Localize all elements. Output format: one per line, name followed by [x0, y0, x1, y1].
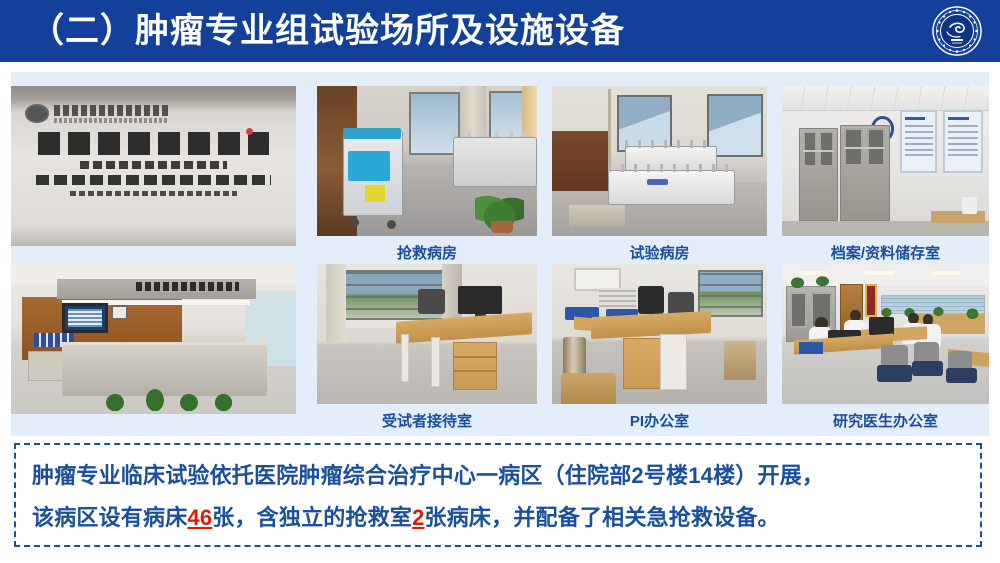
gallery-row-1: 抢救病房 试验病房: [11, 86, 989, 246]
summary-line-1: 肿瘤专业临床试验依托医院肿瘤综合治疗中心一病区（住院部2号楼14楼）开展，: [32, 455, 966, 497]
photo-oncology-center-sign: [11, 86, 296, 246]
hospital-emblem-logo: [932, 6, 982, 56]
photo-archive-room: 档案/资料储存室: [782, 86, 989, 236]
photo-nurses-station: [11, 264, 296, 414]
rescue-bed-count-highlight: 2: [412, 505, 424, 530]
slide-root: （二）肿瘤专业组试验场所及设施设备: [0, 0, 1000, 563]
summary-line2-part-a: 该病区设有病床: [32, 505, 187, 530]
summary-line1-text: 肿瘤专业临床试验依托医院肿瘤综合治疗中心一病区（住院部2号楼14楼）开展，: [32, 463, 824, 488]
photo-rescue-ward: 抢救病房: [317, 86, 537, 236]
photo-caption: 抢救病房: [317, 242, 537, 263]
slide-header: （二）肿瘤专业组试验场所及设施设备: [0, 0, 1000, 62]
photo-trial-ward: 试验病房: [552, 86, 767, 236]
summary-line2-part-c: 张病床，并配备了相关急抢救设备。: [425, 505, 780, 530]
photo-research-doctor-office: 研究医生办公室: [782, 264, 989, 404]
photo-caption: 研究医生办公室: [782, 410, 989, 431]
photo-caption: 档案/资料储存室: [782, 242, 989, 263]
summary-line2-part-b: 张，含独立的抢救室: [212, 505, 412, 530]
page-title: （二）肿瘤专业组试验场所及设施设备: [30, 14, 625, 48]
gallery-row-2: 受试者接待室: [11, 264, 989, 414]
photo-pi-office: PI办公室: [552, 264, 767, 404]
summary-text-box: 肿瘤专业临床试验依托医院肿瘤综合治疗中心一病区（住院部2号楼14楼）开展， 该病…: [14, 443, 982, 547]
photo-caption: PI办公室: [552, 410, 767, 431]
photo-caption: 试验病房: [552, 242, 767, 263]
photo-subject-reception-room: 受试者接待室: [317, 264, 537, 404]
bed-count-highlight: 46: [187, 505, 212, 530]
summary-line-2: 该病区设有病床46张，含独立的抢救室2张病床，并配备了相关急抢救设备。: [32, 497, 966, 539]
photo-caption: 受试者接待室: [317, 410, 537, 431]
photo-gallery-panel: 抢救病房 试验病房: [11, 72, 989, 436]
